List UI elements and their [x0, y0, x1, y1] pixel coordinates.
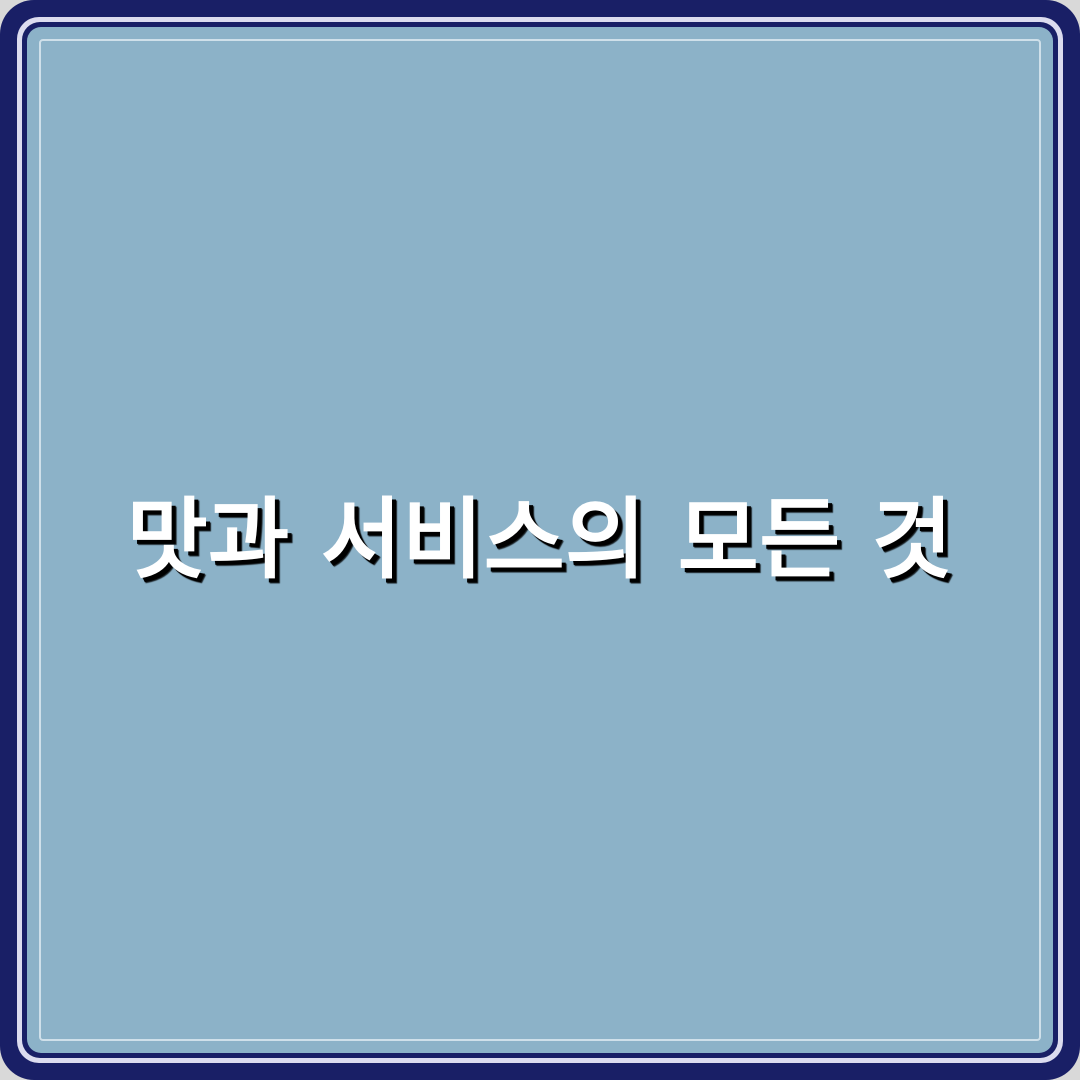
content-panel: 맛과 서비스의 모든 것: [27, 27, 1053, 1053]
headline-container: 맛과 서비스의 모든 것: [27, 27, 1053, 1053]
frame-navy-ring: 맛과 서비스의 모든 것: [22, 22, 1058, 1058]
frame-light-ring: 맛과 서비스의 모든 것: [17, 17, 1063, 1063]
card-outer-frame: 맛과 서비스의 모든 것: [0, 0, 1080, 1080]
page-title: 맛과 서비스의 모든 것: [127, 488, 954, 592]
